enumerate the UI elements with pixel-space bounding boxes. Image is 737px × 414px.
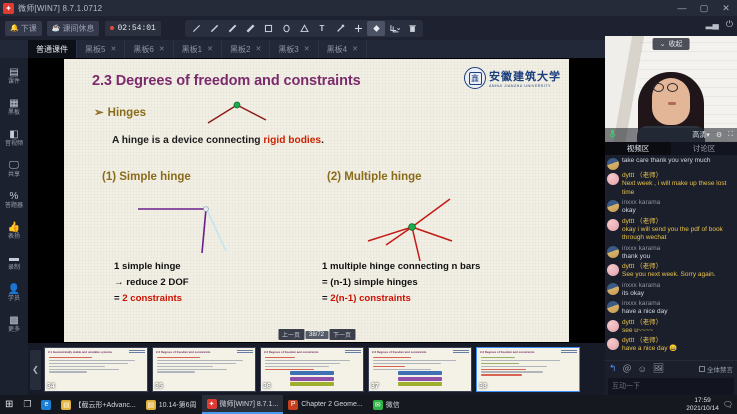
tab-6[interactable]: 黑板4✕ <box>319 40 367 58</box>
chat-message: dyttt （老师）See you next week. Sorry again… <box>605 262 737 281</box>
avatar[interactable] <box>607 338 619 350</box>
taskbar-app-icon: e <box>41 400 51 410</box>
text-line: = (n-1) simple hinges <box>322 275 480 291</box>
tab-label: 黑板4 <box>327 44 347 55</box>
end-class-button[interactable]: 🔔 下课 <box>5 21 42 36</box>
chat-message-body: take care thank you very much <box>622 157 734 170</box>
notification-center-icon[interactable]: 🗨 <box>723 400 733 409</box>
tab-bar-spacer <box>0 40 28 58</box>
avatar[interactable] <box>607 173 619 185</box>
taskbar-item-weishi-app[interactable]: ✦微师[WIN7] 8.7.1... <box>202 395 284 414</box>
chat-sender-name: dyttt （老师） <box>622 319 734 327</box>
avatar[interactable] <box>607 283 619 295</box>
text-tool-icon[interactable]: T <box>313 21 331 36</box>
tab-close-icon[interactable]: ✕ <box>255 45 261 53</box>
class-timer: 02:54:01 <box>105 21 160 36</box>
move-tool-icon[interactable] <box>349 21 367 36</box>
line-text: = (n-1) simple hinges <box>322 277 418 288</box>
sidebar-item-7[interactable]: 👤学员 <box>0 278 28 309</box>
sidebar-item-label: 录制 <box>8 265 20 272</box>
sidebar-item-label: 表扬 <box>8 234 20 241</box>
highlighter-tool-icon[interactable] <box>331 21 349 36</box>
thumbnail-logo-icon <box>561 350 577 354</box>
thumbnail-title: 2.3 Degrees of freedom and constraints <box>264 350 318 354</box>
text-block-multiple-hinge: 1 multiple hinge connecting n bars= (n-1… <box>322 259 480 307</box>
pen-medium-tool-icon[interactable] <box>205 21 223 36</box>
window-title: 微师[WIN7] 8.7.1.0712 <box>18 3 102 14</box>
chat-toolbar: ↰ ＠ ☺ 🖼 全体禁言 <box>605 360 737 376</box>
simple-hinge-diagram <box>136 199 246 261</box>
avatar[interactable] <box>607 320 619 332</box>
tab-label: 黑板5 <box>85 44 105 55</box>
sidebar-item-label: 课件 <box>8 79 20 86</box>
lead-prefix: A hinge is a device connecting <box>112 135 263 146</box>
seal-inner-glyph: 鑫 <box>469 72 482 85</box>
avatar[interactable] <box>607 264 619 276</box>
taskbar-item-powerpoint-window[interactable]: PChapter 2 Geome... <box>283 395 367 414</box>
chat-message: dyttt （老师）see u~~~~ <box>605 318 737 337</box>
checkbox-box-icon <box>699 366 705 372</box>
thumbnail-content <box>49 357 143 374</box>
sidebar-icon: ◧ <box>9 129 18 140</box>
chat-message-body: dyttt （老师）See you next week. Sorry again… <box>622 263 734 280</box>
at-mention-icon[interactable]: ＠ <box>623 362 632 375</box>
line-text: 2 constraints <box>122 293 182 304</box>
thumbnail-number: 34 <box>47 383 55 390</box>
ellipse-tool-icon[interactable] <box>277 21 295 36</box>
sidebar-item-3[interactable]: 🖵共享 <box>0 154 28 185</box>
line-text: 1 simple hinge <box>114 261 181 272</box>
reply-mode-icon[interactable]: ↰ <box>609 363 617 374</box>
thumbnail-content <box>373 357 467 388</box>
slide-thumbnail-strip: ❮ 2.1 Geometrically stable and unstable … <box>28 343 605 396</box>
windows-taskbar: ⊞ ❐ e▤【截云形+Advanc...▤10.14-第6周✦微师[WIN7] … <box>0 395 737 414</box>
arrow-bullet-icon: ➢ <box>94 107 104 119</box>
thumbnail-title: 2.3 Degrees of freedom and constraints <box>156 350 210 354</box>
chat-sender-name: dyttt （老师） <box>622 218 734 226</box>
sidebar-icon: 👍 <box>8 222 20 233</box>
caret-down-icon: ▾ <box>706 132 710 139</box>
slide-canvas[interactable]: 2.3 Degrees of freedom and constraints 鑫… <box>64 59 569 342</box>
taskbar-item-folder-window-2[interactable]: ▤10.14-第6周 <box>141 395 202 414</box>
thumbnail-logo-icon <box>345 350 361 354</box>
tab-5[interactable]: 黑板3✕ <box>270 40 318 58</box>
taskbar-app-label: 微信 <box>386 400 400 410</box>
thumbnail-title: 2.3 Degrees of freedom and constraints <box>480 350 534 354</box>
page-indicator: 38/72 <box>305 331 328 339</box>
heading-simple-hinge: (1) Simple hinge <box>102 171 191 183</box>
chat-message-text: okay <box>622 207 734 216</box>
chat-message: take care thank you very much <box>605 156 737 171</box>
coffee-icon: ☕ <box>52 24 61 32</box>
thumbnail-content <box>481 357 575 377</box>
avatar[interactable] <box>607 219 619 231</box>
chat-message: inxxx karamathank you <box>605 244 737 263</box>
power-icon[interactable]: ⏻ <box>726 19 733 30</box>
thumbnail-number: 35 <box>155 383 163 390</box>
chat-message-text: Next week , i will make up these lost ti… <box>622 180 734 197</box>
thumbnail-number: 38 <box>479 383 487 390</box>
sidebar-icon: ▦ <box>9 98 18 109</box>
select-crop-tool-icon[interactable] <box>385 21 403 36</box>
taskbar-item-edge-browser[interactable]: e <box>36 395 56 414</box>
line-text: 1 multiple hinge connecting n bars <box>322 261 480 272</box>
tab-label: 黑板2 <box>230 44 250 55</box>
video-collapse-label: 收起 <box>668 39 682 49</box>
thumbnail-35[interactable]: 2.3 Degrees of freedom and constraints35 <box>152 347 256 392</box>
chat-message: dyttt （老师）have a nice day 😄 <box>605 336 737 355</box>
chat-message: dyttt （老师）okay i will send you the pdf o… <box>605 217 737 244</box>
maximize-button[interactable]: ▢ <box>693 0 715 16</box>
university-logo: 鑫 安徽建筑大学 ANHUI JIANZHU UNIVERSITY <box>464 67 561 89</box>
bell-icon: 🔔 <box>10 24 19 32</box>
taskbar-app-label: Chapter 2 Geome... <box>301 401 362 408</box>
avatar[interactable] <box>607 200 619 212</box>
eraser-tool-icon[interactable] <box>367 21 385 36</box>
taskbar-app-label: 【截云形+Advanc... <box>74 400 135 410</box>
thumbnail-number: 37 <box>371 383 379 390</box>
university-name-en: ANHUI JIANZHU UNIVERSITY <box>489 84 561 88</box>
thumbnail-37[interactable]: 2.3 Degrees of freedom and constraints37 <box>368 347 472 392</box>
mouth-shape <box>668 102 676 105</box>
thumbnail-38[interactable]: 2.3 Degrees of freedom and constraints38 <box>476 347 580 392</box>
chat-message-text: thank you <box>622 253 734 262</box>
sidebar-item-2[interactable]: ◧音视频 <box>0 123 28 154</box>
end-class-label: 下课 <box>21 23 37 34</box>
taskbar-app-icon: ✉ <box>373 400 383 410</box>
windows-start-icon: ⊞ <box>5 399 13 410</box>
tab-close-icon[interactable]: ✕ <box>304 45 310 53</box>
chat-message-body: inxxx karamaokay <box>622 199 734 216</box>
text-line: → reduce 2 DOF <box>114 275 189 291</box>
thumbnail-36[interactable]: 2.3 Degrees of freedom and constraints36 <box>260 347 364 392</box>
taskbar-app-icon: ✦ <box>207 399 217 409</box>
mute-all-checkbox[interactable]: 全体禁言 <box>699 364 733 374</box>
thumbnail-34[interactable]: 2.1 Geometrically stable and unstable sy… <box>44 347 148 392</box>
chat-message-text: See you next week. Sorry again. <box>622 271 734 280</box>
text-line: 1 simple hinge <box>114 259 189 275</box>
line-text: 2(n-1) constraints <box>330 293 411 304</box>
chat-sender-name: dyttt （老师） <box>622 337 734 345</box>
clock-time: 17:59 <box>686 397 719 405</box>
minimize-button[interactable]: — <box>671 0 693 16</box>
taskbar-app-label: 10.14-第6周 <box>159 400 197 410</box>
chat-sender-name: inxxx karama <box>622 199 734 207</box>
text-line: 1 multiple hinge connecting n bars <box>322 259 480 275</box>
chat-message-body: inxxx karamahave a nice day <box>622 300 734 317</box>
sidebar-item-8[interactable]: ▩更多 <box>0 309 28 340</box>
sidebar-item-label: 答题器 <box>5 203 23 210</box>
tab-close-icon[interactable]: ✕ <box>110 45 116 53</box>
triangle-tool-icon[interactable] <box>295 21 313 36</box>
next-page-button[interactable]: 下一页 <box>329 329 355 340</box>
sidebar-icon: ▤ <box>9 67 18 78</box>
chat-message: inxxx karamahave a nice day <box>605 299 737 318</box>
sidebar-item-label: 更多 <box>8 327 20 334</box>
chat-sender-name: inxxx karama <box>622 300 734 308</box>
chat-tab-bar: 视频区 讨论区 <box>605 142 737 155</box>
tab-4[interactable]: 黑板2✕ <box>222 40 270 58</box>
chat-message-text: have a nice day 😄 <box>622 345 734 354</box>
slide-title: 2.3 Degrees of freedom and constraints <box>92 73 361 89</box>
tab-1[interactable]: 黑板5✕ <box>77 40 125 58</box>
chat-message-body: dyttt （老师）okay i will send you the pdf o… <box>622 218 734 243</box>
lead-sentence: A hinge is a device connecting rigid bod… <box>112 135 324 146</box>
tab-close-icon[interactable]: ✕ <box>207 45 213 53</box>
sidebar-item-label: 学员 <box>8 296 20 303</box>
sidebar-item-0[interactable]: ▤课件 <box>0 61 28 92</box>
app-logo-icon: ✦ <box>3 3 14 14</box>
tab-close-icon[interactable]: ✕ <box>352 45 358 53</box>
chat-sender-name: inxxx karama <box>622 245 734 253</box>
tab-0[interactable]: 普通课件 <box>28 40 77 58</box>
section-bullet-text: Hinges <box>108 107 146 119</box>
thumbnail-logo-icon <box>129 350 145 354</box>
chat-message-body: inxxx karamathank you <box>622 245 734 262</box>
chat-message-body: dyttt （老师）see u~~~~ <box>622 319 734 336</box>
tab-2[interactable]: 黑板6✕ <box>125 40 173 58</box>
chat-message-text: have a nice day <box>622 308 734 317</box>
left-sidebar: ▤课件▦黑板◧音视频🖵共享%答题器👍表扬▬录制👤学员▩更多 <box>0 58 28 414</box>
tab-label: 普通课件 <box>36 44 68 55</box>
title-bar: ✦ 微师[WIN7] 8.7.1.0712 — ▢ ✕ <box>0 0 737 16</box>
chat-sender-name: dyttt （老师） <box>622 263 734 271</box>
delete-tool-icon[interactable] <box>403 21 421 36</box>
avatar[interactable] <box>607 246 619 258</box>
microphone-icon[interactable] <box>609 129 616 141</box>
heading-multiple-hinge: (2) Multiple hinge <box>327 171 422 183</box>
section-bullet: ➢Hinges <box>94 105 146 119</box>
thumbnail-logo-icon <box>237 350 253 354</box>
avatar[interactable] <box>607 158 619 170</box>
chat-message: dyttt （老师）Next week , i will make up the… <box>605 171 737 198</box>
taskbar-app-icon: ▤ <box>61 400 71 410</box>
chat-message-body: dyttt （老师）have a nice day 😄 <box>622 337 734 354</box>
tab-3[interactable]: 黑板1✕ <box>174 40 222 58</box>
sidebar-icon: 👤 <box>8 284 20 295</box>
sidebar-icon: % <box>10 191 19 202</box>
slide-pager: 上一页 38/72 下一页 <box>278 329 355 340</box>
text-line: = 2(n-1) constraints <box>322 291 480 307</box>
emoji-icon[interactable]: ☺ <box>638 364 647 374</box>
video-collapse-button[interactable]: ⌄ 收起 <box>653 38 690 50</box>
sidebar-item-4[interactable]: %答题器 <box>0 185 28 216</box>
chat-message: inxxx karamaits okay <box>605 281 737 300</box>
chat-sender-name: inxxx karama <box>622 282 734 290</box>
mute-all-label: 全体禁言 <box>707 364 733 374</box>
tab-video-area[interactable]: 视频区 <box>605 142 671 155</box>
glasses-right-icon <box>667 83 678 92</box>
university-name-cn: 安徽建筑大学 <box>489 68 561 84</box>
multiple-hinge-diagram <box>364 193 474 265</box>
sidebar-icon: ▩ <box>9 315 18 326</box>
tab-discussion-area[interactable]: 讨论区 <box>671 142 737 155</box>
control-bar-right: ▂▄ ⏻ <box>706 19 733 30</box>
tab-label: 黑板3 <box>278 44 298 55</box>
chat-message-body: inxxx karamaits okay <box>622 282 734 299</box>
line-text: → reduce 2 DOF <box>114 277 189 288</box>
break-label: 课间休息 <box>62 23 94 34</box>
sidebar-item-label: 黑板 <box>8 110 20 117</box>
slide-stage: 2.3 Degrees of freedom and constraints 鑫… <box>28 58 605 343</box>
taskbar-item-wechat-window[interactable]: ✉微信 <box>368 395 405 414</box>
hinge-sketch-top <box>204 99 274 127</box>
tab-label: 黑板1 <box>182 44 202 55</box>
sidebar-item-1[interactable]: ▦黑板 <box>0 92 28 123</box>
recording-dot-icon <box>110 26 114 30</box>
chat-message: inxxx karamaokay <box>605 198 737 217</box>
thumbnail-title: 2.1 Geometrically stable and unstable sy… <box>48 350 112 354</box>
chat-message-text: take care thank you very much <box>622 157 734 166</box>
chat-message-list[interactable]: take care thank you very muchdyttt （老师）N… <box>605 155 737 360</box>
chat-sender-name: dyttt （老师） <box>622 172 734 180</box>
network-signal-icon: ▂▄ <box>706 19 719 30</box>
pen-thin-tool-icon[interactable] <box>187 21 205 36</box>
chat-message-text: its okay <box>622 290 734 299</box>
text-block-simple-hinge: 1 simple hinge→ reduce 2 DOF= 2 constrai… <box>114 259 189 307</box>
thumbnail-number: 36 <box>263 383 271 390</box>
annotation-toolbar: T <box>185 20 423 37</box>
chevron-down-icon: ⌄ <box>660 40 666 48</box>
sidebar-item-5[interactable]: 👍表扬 <box>0 216 28 247</box>
close-button[interactable]: ✕ <box>715 0 737 16</box>
avatar[interactable] <box>607 301 619 313</box>
glasses-left-icon <box>653 83 664 92</box>
weishi-application-window: ✦ 微师[WIN7] 8.7.1.0712 — ▢ ✕ 🔔 下课 ☕ 课间休息 … <box>0 0 737 414</box>
chat-message-body: dyttt （老师）Next week , i will make up the… <box>622 172 734 197</box>
image-upload-icon[interactable]: 🖼 <box>653 363 664 374</box>
task-view-button[interactable]: ❐ <box>18 395 36 414</box>
thumbnail-content <box>265 357 359 388</box>
lead-suffix: . <box>321 135 324 146</box>
video-settings-icon[interactable]: ⚙ <box>716 131 722 139</box>
video-expand-icon[interactable]: ⛶ <box>728 131 733 139</box>
sidebar-item-label: 音视频 <box>5 141 23 148</box>
teacher-video-pane[interactable]: ⌄ 收起 高清▾ ⚙ ⛶ <box>605 36 737 142</box>
break-button[interactable]: ☕ 课间休息 <box>47 21 100 36</box>
lead-highlight: rigid bodies <box>263 135 321 146</box>
taskbar-app-icon: ▤ <box>146 400 156 410</box>
thumbnail-title: 2.3 Degrees of freedom and constraints <box>372 350 426 354</box>
clock-date: 2021/10/14 <box>686 405 719 413</box>
system-tray: 🗨 <box>723 400 737 409</box>
video-controls: 高清▾ ⚙ ⛶ <box>605 128 737 142</box>
chat-message-text: okay i will send you the pdf of book thr… <box>622 226 734 243</box>
taskbar-clock[interactable]: 17:59 2021/10/14 <box>686 397 723 413</box>
sidebar-item-label: 共享 <box>8 172 20 179</box>
sidebar-icon: 🖵 <box>9 160 19 171</box>
university-seal-icon: 鑫 <box>464 67 486 89</box>
chat-pane: 视频区 讨论区 take care thank you very muchdyt… <box>605 142 737 414</box>
rectangle-tool-icon[interactable] <box>259 21 277 36</box>
timer-value: 02:54:01 <box>117 24 155 33</box>
video-quality-label: 高清 <box>692 132 706 139</box>
video-controls-right: 高清▾ ⚙ ⛶ <box>692 130 733 140</box>
taskbar-app-label: 微师[WIN7] 8.7.1... <box>220 399 279 409</box>
start-button[interactable]: ⊞ <box>0 395 18 414</box>
thumbnail-content <box>157 357 251 374</box>
thumbnail-collapse-button[interactable]: ❮ <box>30 350 41 390</box>
chat-message-text: see u~~~~ <box>622 327 734 336</box>
window-controls: — ▢ ✕ <box>671 0 737 16</box>
pen-thick-tool-icon[interactable] <box>223 21 241 36</box>
sidebar-icon: ▬ <box>9 253 19 264</box>
sidebar-item-6[interactable]: ▬录制 <box>0 247 28 278</box>
thumbnail-logo-icon <box>453 350 469 354</box>
prev-page-button[interactable]: 上一页 <box>278 329 304 340</box>
taskbar-item-folder-window-1[interactable]: ▤【截云形+Advanc... <box>56 395 140 414</box>
tab-close-icon[interactable]: ✕ <box>159 45 165 53</box>
tab-label: 黑板6 <box>133 44 153 55</box>
text-line: = 2 constraints <box>114 291 189 307</box>
task-view-icon: ❐ <box>23 399 31 410</box>
taskbar-app-icon: P <box>288 400 298 410</box>
marker-tool-icon[interactable] <box>241 21 259 36</box>
video-quality-selector[interactable]: 高清▾ <box>692 130 710 140</box>
